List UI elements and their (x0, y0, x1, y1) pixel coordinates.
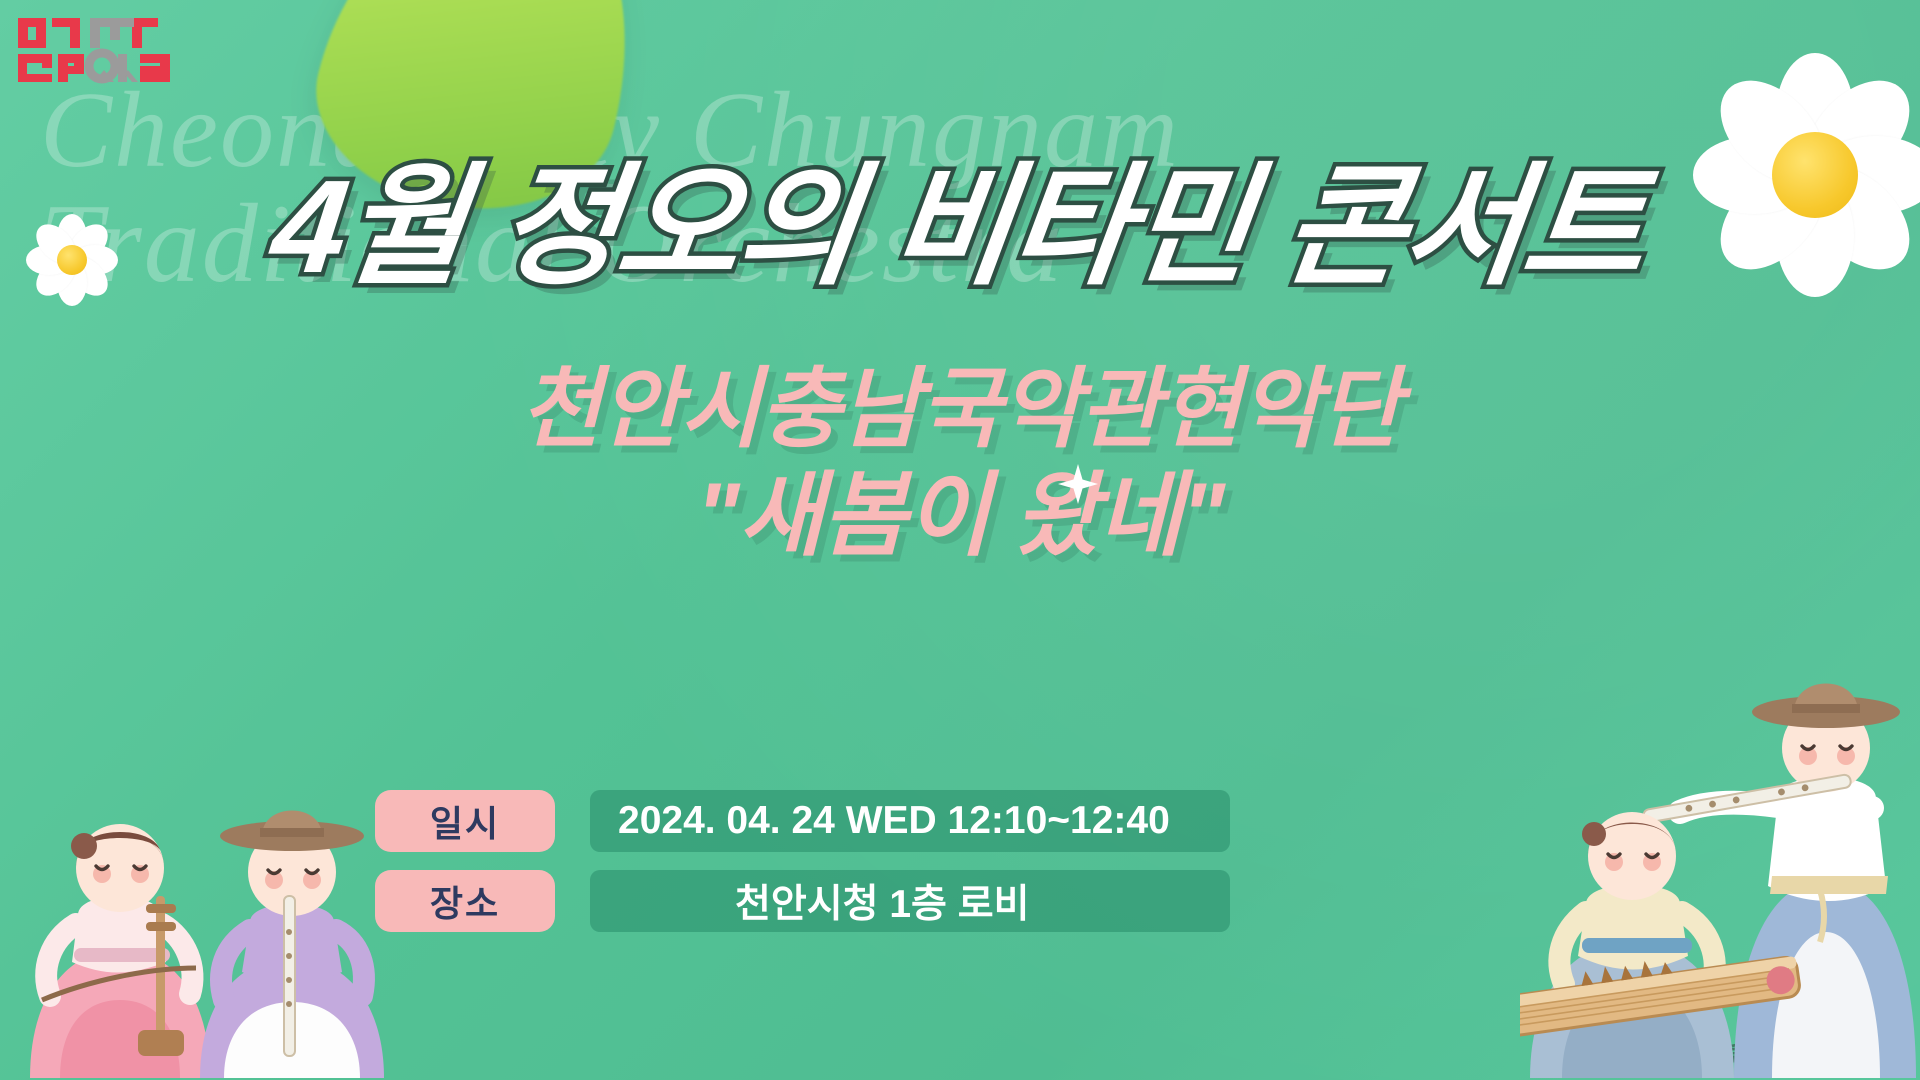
info-value-place: 천안시청 1층 로비 (590, 870, 1230, 932)
illustration-left-musicians (10, 700, 480, 1080)
culture-day-logo (14, 8, 194, 88)
poster-canvas: Cheonan City Chungnam Traditional Orches… (0, 0, 1920, 1080)
info-row-date: 일시 2024. 04. 24 WED 12:10~12:40 (375, 790, 1230, 852)
page-title: 4월 정오의 비타민 콘서트 (0, 120, 1920, 311)
illustration-right-musicians (1520, 560, 1920, 1080)
subtitle-line-2: "새봄이 왔네" (0, 465, 1920, 568)
info-value-date: 2024. 04. 24 WED 12:10~12:40 (590, 790, 1230, 852)
sparkle-icon (1056, 462, 1100, 506)
subtitle-line-1: 천안시충남국악관현악단 (0, 360, 1920, 459)
info-row-place: 장소 천안시청 1층 로비 (375, 870, 1230, 932)
info-block: 일시 2024. 04. 24 WED 12:10~12:40 장소 천안시청 … (375, 790, 1230, 932)
subtitle-block: 천안시충남국악관현악단 "새봄이 왔네" (0, 360, 1920, 568)
